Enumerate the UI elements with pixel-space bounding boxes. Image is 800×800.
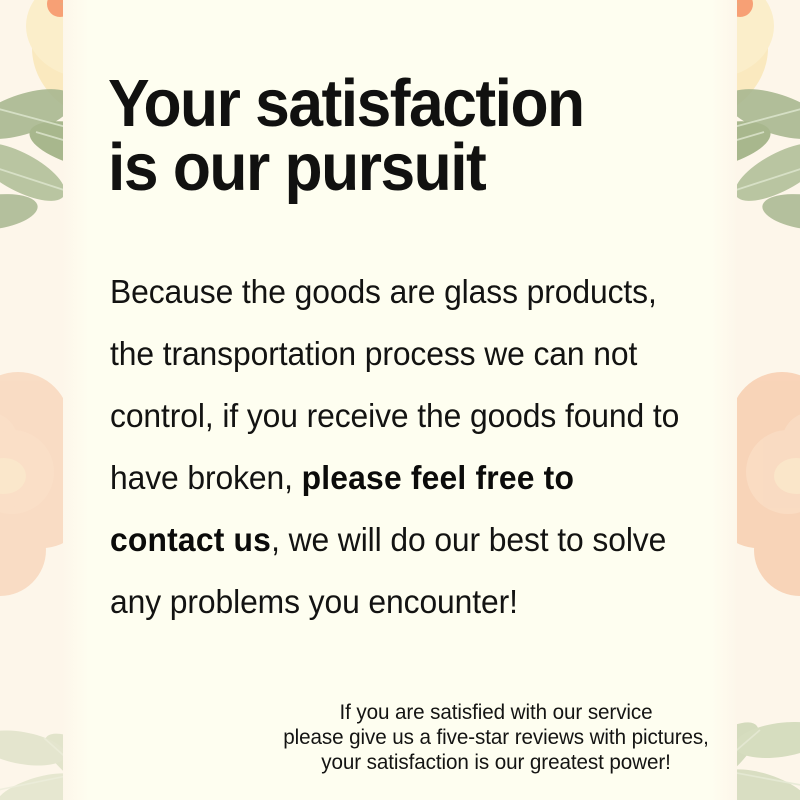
card-content: Your satisfaction is our pursuit Because… [0,0,800,800]
promo-card: Your satisfaction is our pursuit Because… [0,0,800,800]
footer-note: If you are satisfied with our service pl… [256,700,736,775]
footer-line-2: please give us a five-star reviews with … [256,725,736,750]
footer-line-3: your satisfaction is our greatest power! [256,750,736,775]
body-paragraph: Because the goods are glass products, th… [110,262,695,634]
page-title: Your satisfaction is our pursuit [108,72,703,201]
footer-line-1: If you are satisfied with our service [256,700,736,725]
